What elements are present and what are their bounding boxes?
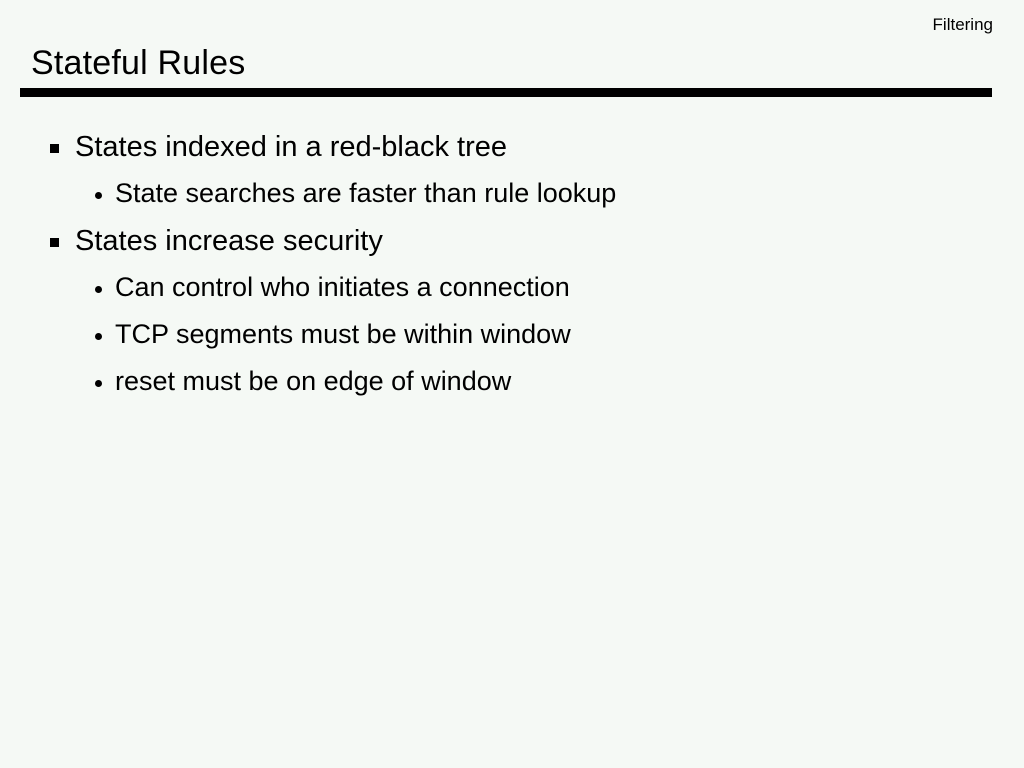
list-item-label: Can control who initiates a connection — [115, 272, 570, 303]
square-bullet-icon — [50, 144, 59, 153]
square-bullet-icon — [50, 238, 59, 247]
bullet-list: States indexed in a red-black tree State… — [0, 131, 1024, 413]
list-item: TCP segments must be within window — [0, 319, 1024, 366]
list-item: States increase security — [0, 225, 1024, 272]
round-bullet-icon — [95, 192, 102, 199]
list-item-label: States indexed in a red-black tree — [75, 131, 507, 164]
page-title: Stateful Rules — [31, 43, 245, 83]
list-item: State searches are faster than rule look… — [0, 178, 1024, 225]
round-bullet-icon — [95, 380, 102, 387]
round-bullet-icon — [95, 333, 102, 340]
list-item-label: reset must be on edge of window — [115, 366, 511, 397]
title-divider — [20, 88, 992, 97]
round-bullet-icon — [95, 286, 102, 293]
running-header: Filtering — [933, 15, 993, 35]
list-item: reset must be on edge of window — [0, 366, 1024, 413]
slide: Filtering Stateful Rules States indexed … — [0, 0, 1024, 768]
list-item-label: States increase security — [75, 225, 383, 258]
list-item-label: State searches are faster than rule look… — [115, 178, 616, 209]
list-item: Can control who initiates a connection — [0, 272, 1024, 319]
list-item: States indexed in a red-black tree — [0, 131, 1024, 178]
list-item-label: TCP segments must be within window — [115, 319, 571, 350]
